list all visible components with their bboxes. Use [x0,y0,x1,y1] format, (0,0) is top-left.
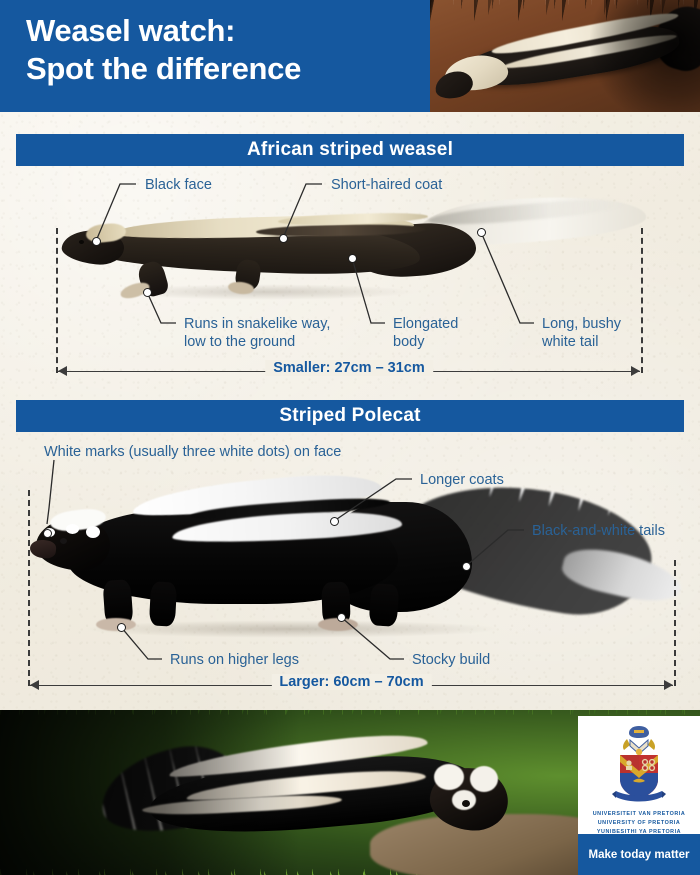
weasel-measure-guide-left [56,228,58,373]
callout-long-bushy-white-tail: Long, bushy white tail [542,315,621,351]
polecat-foreleg-far [149,581,177,626]
weasel-size-arrow-right-icon [631,366,640,376]
callout-dot-runs-snakelike [143,288,152,297]
callout-elongated-body: Elongated body [393,315,458,351]
callout-dot-black-face [92,237,101,246]
callout-stocky-build: Stocky build [412,651,490,669]
polecat-size-label: Larger: 60cm – 70cm [271,674,431,690]
weasel-size-label: Smaller: 27cm – 31cm [265,360,433,376]
polecat-size-arrow-right-icon [664,680,673,690]
header-photo-striped-weasel [430,0,700,112]
polecat-size-arrow-left-icon [30,680,39,690]
illustration-striped-polecat [22,462,682,647]
callout-dot-elongated-body [348,254,357,263]
section-heading-striped-polecat: Striped Polecat [16,400,684,432]
university-logo-card: UNIVERSITEIT VAN PRETORIA UNIVERSITY OF … [578,716,700,875]
polecat-face-dot-3 [86,526,100,538]
footer-photo-shadow-overlay [0,710,300,875]
footer-polecat-face-dot-1 [434,764,464,790]
polecat-face-dot-2 [66,524,79,534]
title-line-1: Weasel watch: [26,12,416,50]
callout-short-haired-coat: Short-haired coat [331,176,442,194]
callout-dot-white-face-marks [43,529,52,538]
callout-longer-coats: Longer coats [420,471,504,489]
polecat-hindleg-far [369,583,400,627]
weasel-measure-guide-right [641,228,643,373]
university-name-english: UNIVERSITY OF PRETORIA [578,819,700,828]
university-of-pretoria-crest-icon [608,723,670,807]
callout-runs-on-higher-legs: Runs on higher legs [170,651,299,669]
polecat-snout [29,539,57,560]
university-name-afrikaans: UNIVERSITEIT VAN PRETORIA [578,810,700,819]
section-heading-african-striped-weasel: African striped weasel [16,134,684,166]
callout-dot-runs-on-higher-legs [117,623,126,632]
title-line-2: Spot the difference [26,50,416,88]
footer-polecat-eye [462,800,470,807]
footer-polecat-face-dot-2 [470,766,498,792]
weasel-eye [79,240,84,244]
page-title: Weasel watch: Spot the difference [26,12,416,89]
photo-vignette [590,0,700,112]
university-tagline: Make today matter [578,834,700,875]
callout-dot-short-haired-coat [279,234,288,243]
callout-dot-long-bushy-white-tail [477,228,486,237]
callout-black-face: Black face [145,176,212,194]
header-band: Weasel watch: Spot the difference [0,0,700,112]
polecat-forepaw [96,618,136,631]
title-block: Weasel watch: Spot the difference [0,0,430,112]
polecat-eye [60,538,67,544]
callout-black-and-white-tails: Black-and-white tails [532,522,665,540]
callout-dot-stocky-build [337,613,346,622]
polecat-measure-guide-left [28,490,30,686]
callout-white-face-marks: White marks (usually three white dots) o… [44,443,341,461]
infographic-page: Weasel watch: Spot the difference Africa… [0,0,700,875]
polecat-measure-guide-right [674,560,676,686]
weasel-size-arrow-left-icon [58,366,67,376]
polecat-ground-shadow [82,620,502,638]
callout-dot-longer-coats [330,517,339,526]
callout-runs-snakelike: Runs in snakelike way, low to the ground [184,315,330,351]
polecat-size-bar: Larger: 60cm – 70cm [30,676,673,694]
callout-dot-black-and-white-tails [462,562,471,571]
weasel-size-bar: Smaller: 27cm – 31cm [58,362,640,380]
